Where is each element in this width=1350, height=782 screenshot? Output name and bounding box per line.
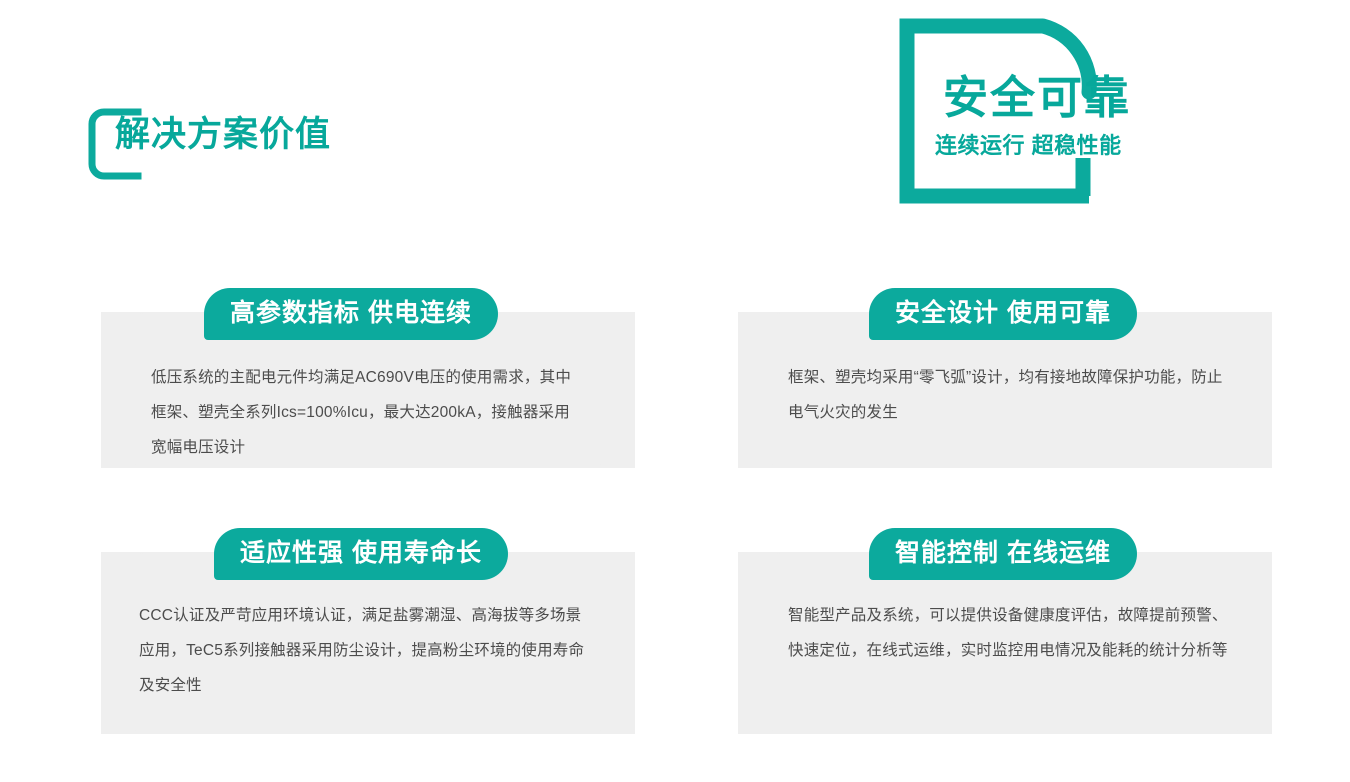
page-heading: 解决方案价值	[88, 108, 508, 192]
card-header-pill: 安全设计 使用可靠	[869, 288, 1137, 340]
hero-title: 安全可靠	[943, 75, 1131, 120]
card-body-text: CCC认证及严苛应用环境认证，满足盐雾潮湿、高海拔等多场景应用，TeC5系列接触…	[139, 598, 591, 703]
card-header-pill: 智能控制 在线运维	[869, 528, 1137, 580]
value-card: 高参数指标 供电连续 低压系统的主配电元件均满足AC690V电压的使用需求，其中…	[101, 312, 635, 468]
value-card: 适应性强 使用寿命长 CCC认证及严苛应用环境认证，满足盐雾潮湿、高海拔等多场景…	[101, 552, 635, 734]
value-card: 智能控制 在线运维 智能型产品及系统，可以提供设备健康度评估，故障提前预警、快速…	[738, 552, 1272, 734]
hero-subtitle: 连续运行 超稳性能	[935, 135, 1122, 157]
card-header-pill: 适应性强 使用寿命长	[214, 528, 508, 580]
card-body-text: 智能型产品及系统，可以提供设备健康度评估，故障提前预警、快速定位，在线式运维，实…	[788, 598, 1240, 668]
card-header-pill: 高参数指标 供电连续	[204, 288, 498, 340]
card-body-text: 框架、塑壳均采用“零飞弧”设计，均有接地故障保护功能，防止电气火灾的发生	[788, 360, 1238, 430]
page-title: 解决方案价值	[115, 117, 331, 152]
card-body-text: 低压系统的主配电元件均满足AC690V电压的使用需求，其中框架、塑壳全系列Ics…	[151, 360, 583, 465]
value-card: 安全设计 使用可靠 框架、塑壳均采用“零飞弧”设计，均有接地故障保护功能，防止电…	[738, 312, 1272, 468]
hero-badge: 安全可靠 连续运行 超稳性能	[893, 18, 1125, 210]
